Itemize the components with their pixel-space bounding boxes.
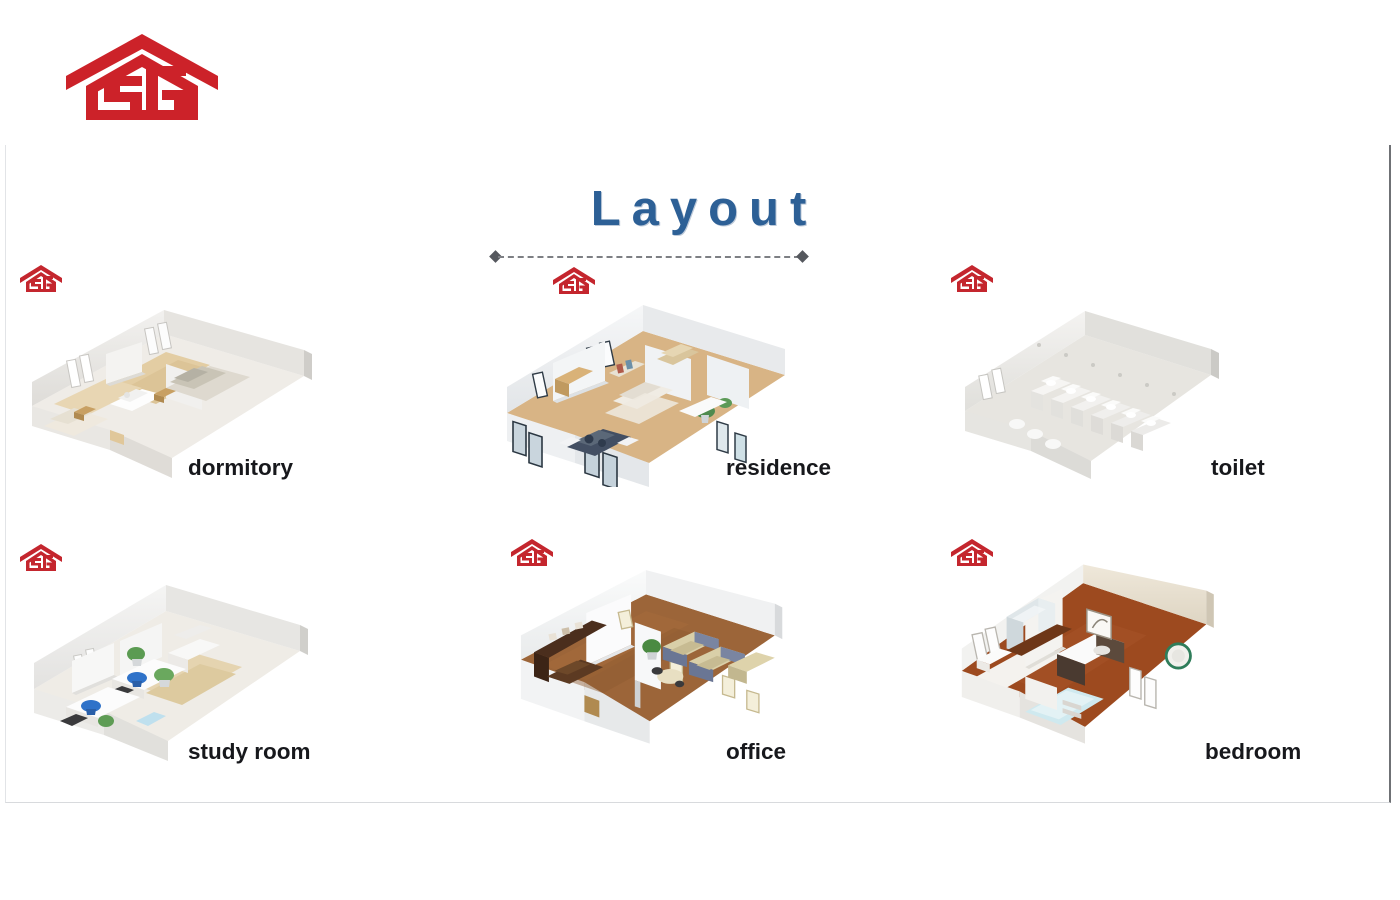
office-3d-floorplan (496, 557, 796, 753)
2g-house-badge-icon (509, 537, 555, 569)
page-title: Layout (591, 185, 818, 234)
2g-house-logo (62, 28, 222, 128)
2g-house-badge-icon (18, 542, 64, 574)
room-label-office: office (726, 739, 786, 765)
room-label-study-room: study room (188, 739, 311, 765)
room-label-residence: residence (726, 455, 831, 481)
2g-house-badge-icon (18, 263, 64, 295)
2g-house-badge-icon (551, 265, 597, 297)
room-label-dormitory: dormitory (188, 455, 293, 481)
2g-house-badge-icon (949, 537, 995, 569)
divider-dashed-line (498, 256, 800, 258)
room-label-bedroom: bedroom (1205, 739, 1301, 765)
bedroom-3d-floorplan (935, 557, 1235, 753)
room-card-bedroom[interactable]: bedroom (930, 539, 1392, 815)
toilet-3d-floorplan (935, 293, 1235, 489)
room-card-office[interactable]: office (468, 539, 930, 815)
slide-content-panel: Layout (5, 145, 1391, 803)
room-card-residence[interactable]: residence (468, 263, 930, 539)
page-title-block: Layout (6, 185, 1392, 234)
title-divider (491, 252, 807, 261)
room-card-dormitory[interactable]: dormitory (6, 263, 468, 539)
divider-right-diamond-icon (796, 250, 809, 263)
2g-house-badge-icon (949, 263, 995, 295)
room-card-toilet[interactable]: toilet (930, 263, 1392, 539)
room-label-toilet: toilet (1211, 455, 1265, 481)
study-room-3d-floorplan (14, 569, 314, 765)
room-layout-grid: dormitory (6, 263, 1392, 815)
room-card-study-room[interactable]: study room (6, 539, 468, 815)
